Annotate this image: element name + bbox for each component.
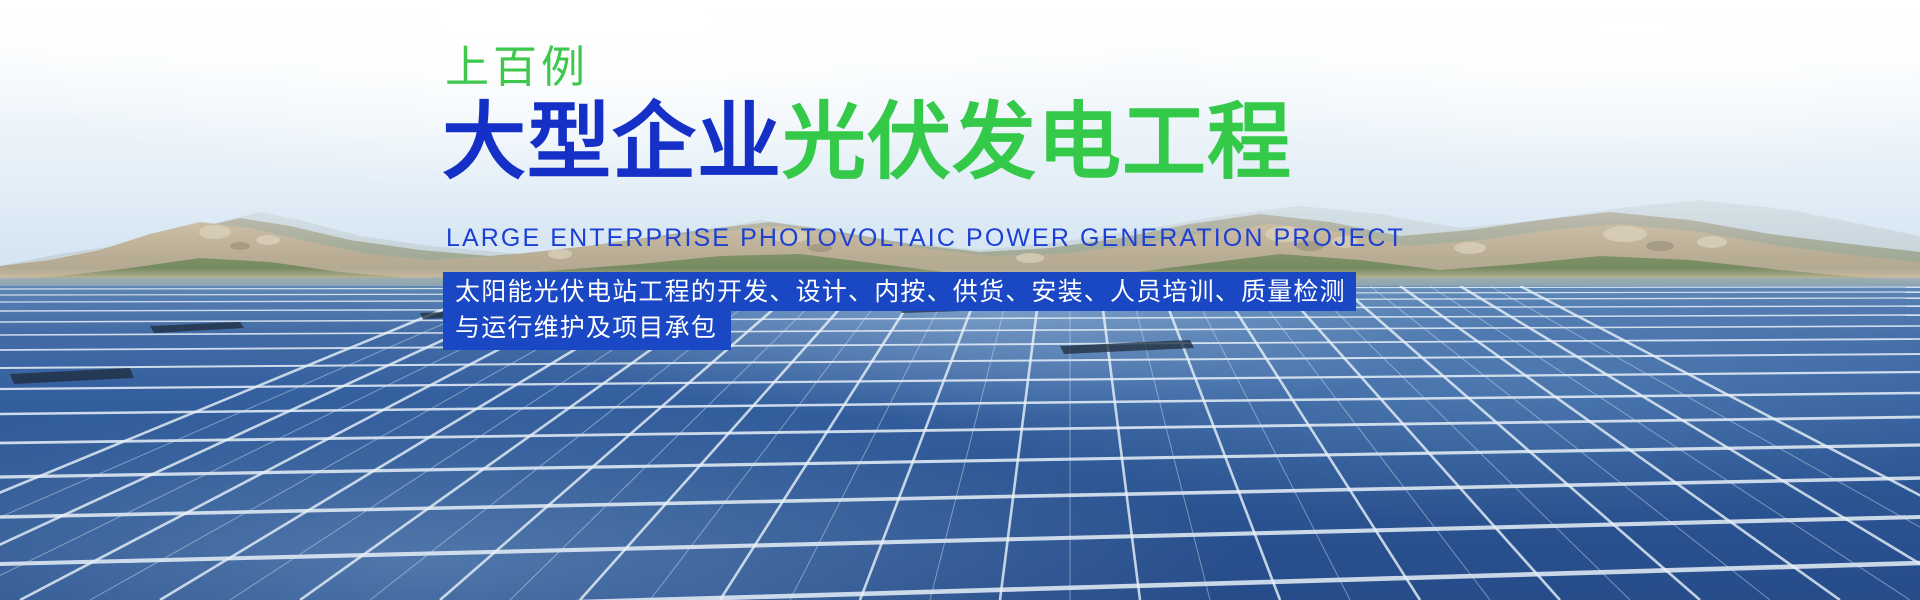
banner-description-box: 太阳能光伏电站工程的开发、设计、内按、供货、安装、人员培训、质量检测 与运行维护…: [443, 272, 1340, 350]
description-line-2-wrap: 与运行维护及项目承包: [443, 311, 1340, 350]
banner-copy: 上百例 大型企业光伏发电工程 LARGE ENTERPRISE PHOTOVOL…: [0, 0, 1920, 600]
banner-english-subtitle: LARGE ENTERPRISE PHOTOVOLTAIC POWER GENE…: [446, 224, 1405, 252]
description-line-2: 与运行维护及项目承包: [443, 310, 731, 350]
banner-headline: 大型企业光伏发电工程: [442, 96, 1292, 188]
description-line-1: 太阳能光伏电站工程的开发、设计、内按、供货、安装、人员培训、质量检测: [443, 272, 1356, 311]
headline-blue-part: 大型企业: [442, 95, 782, 189]
photovoltaic-hero-banner: 上百例 大型企业光伏发电工程 LARGE ENTERPRISE PHOTOVOL…: [0, 0, 1920, 600]
headline-green-part: 光伏发电工程: [782, 95, 1292, 189]
banner-eyebrow: 上百例: [445, 42, 589, 94]
